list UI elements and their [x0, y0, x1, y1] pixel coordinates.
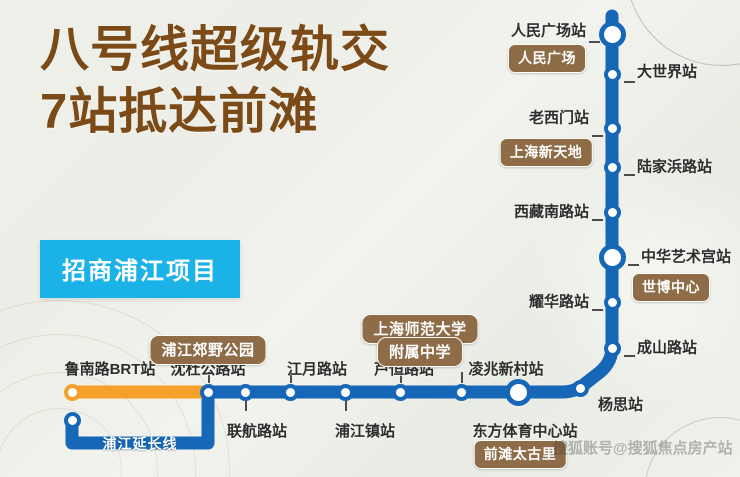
station-dot-renmin-square[interactable]: [599, 21, 626, 48]
station-label-dashijie: 大世界站: [637, 61, 697, 82]
station-dot-yaohua-road[interactable]: [604, 294, 621, 311]
tick-dashijie: [624, 81, 635, 83]
station-dot-chengshan-road[interactable]: [604, 340, 621, 357]
station-dot-lunan-road-brt[interactable]: [64, 384, 81, 401]
station-dot-luheng-road[interactable]: [392, 384, 409, 401]
tick-lujiabang-road: [624, 174, 635, 176]
metro-line-poster: 八号线超级轨交 7站抵达前滩 招商浦江项目 人民广: [0, 0, 740, 477]
tick-chengshan-road: [624, 355, 635, 357]
tick-renmin-square: [589, 41, 600, 43]
watermark-text: 搜狐账号@搜狐焦点房产站: [553, 437, 733, 458]
station-label-south-xizang-road: 西藏南路站: [514, 201, 589, 222]
station-dot-yangsi[interactable]: [572, 380, 589, 397]
station-dot-shendu-highway[interactable]: [200, 384, 217, 401]
station-dot-laoximen[interactable]: [604, 120, 621, 137]
poi-badge-renmin-square: 人民广场: [508, 44, 586, 73]
station-label-lunan-road-brt: 鲁南路BRT站: [65, 358, 156, 379]
tick-yaohua-road: [592, 309, 603, 311]
poi-badge-shibo-center: 世博中心: [632, 273, 710, 302]
station-label-pujiang-town: 浦江镇站: [335, 420, 395, 441]
poi-badge-shishi-affiliated-line2: 附属中学: [377, 337, 463, 367]
station-dot-lingzhao-xincun[interactable]: [453, 384, 470, 401]
station-label-lianhang-road: 联航路站: [227, 420, 287, 441]
tick-china-art-museum: [628, 264, 639, 266]
station-dot-oriental-sports-center[interactable]: [505, 379, 532, 406]
station-label-lingzhao-xincun: 凌兆新村站: [468, 358, 543, 379]
station-label-laoximen: 老西门站: [529, 107, 589, 128]
tick-lingzhao-xincun: [461, 372, 463, 383]
station-label-yaohua-road: 耀华路站: [529, 291, 589, 312]
station-dot-south-xizang-road[interactable]: [604, 204, 621, 221]
poi-badge-pujiang-country-park: 浦江郊野公园: [149, 335, 266, 365]
station-dot-pujiang-branch-terminus[interactable]: [64, 412, 81, 429]
station-label-yangsi: 杨思站: [598, 394, 643, 415]
station-label-china-art-museum: 中华艺术宫站: [641, 246, 731, 267]
station-label-renmin-square: 人民广场站: [511, 20, 586, 41]
station-dot-lianhang-road[interactable]: [237, 384, 254, 401]
tick-laoximen: [592, 135, 603, 137]
station-label-jiangyue-road: 江月路站: [287, 358, 347, 379]
headline-line-1: 八号线超级轨交: [40, 26, 390, 76]
station-dot-jiangyue-road[interactable]: [282, 384, 299, 401]
station-dot-china-art-museum[interactable]: [599, 244, 626, 271]
station-label-lujiabang-road: 陆家浜路站: [637, 156, 712, 177]
headline-block: 八号线超级轨交 7站抵达前滩: [40, 26, 390, 138]
poi-badge-xintiandi: 上海新天地: [500, 138, 593, 167]
station-dot-dashijie[interactable]: [604, 66, 621, 83]
tick-south-xizang-road: [592, 219, 603, 221]
headline-line-2: 7站抵达前滩: [40, 88, 390, 138]
project-badge: 招商浦江项目: [40, 240, 240, 298]
station-label-chengshan-road: 成山路站: [637, 337, 697, 358]
tick-pujiang-town: [345, 400, 347, 411]
branch-label-pujiang-extension: 浦江延长线: [103, 434, 178, 454]
station-dot-pujiang-town[interactable]: [337, 384, 354, 401]
tick-lianhang-road: [245, 400, 247, 411]
station-dot-lujiabang-road[interactable]: [604, 159, 621, 176]
